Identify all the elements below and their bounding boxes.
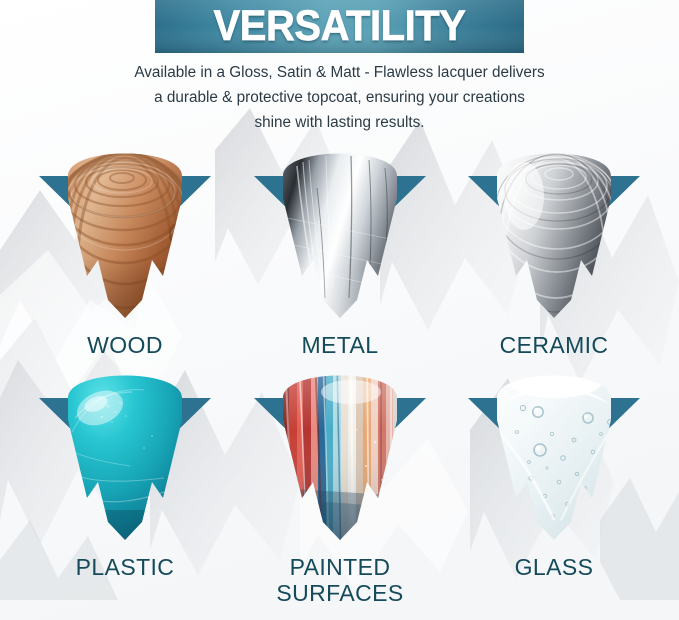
plastic-cone-icon — [12, 370, 238, 550]
intro-line-3: shine with lasting results. — [0, 110, 679, 135]
intro-line-2: a durable & protective topcoat, ensuring… — [0, 85, 679, 110]
material-card-wood: WOOD — [12, 148, 238, 370]
material-card-ceramic: CERAMIC — [441, 148, 667, 370]
material-card-plastic: PLASTIC — [12, 370, 238, 592]
material-label: CERAMIC — [441, 332, 667, 358]
material-label: PAINTED SURFACES — [227, 554, 453, 606]
material-card-glass: GLASS — [441, 370, 667, 592]
material-label: WOOD — [12, 332, 238, 358]
glass-cone-icon — [441, 370, 667, 550]
painted-surfaces-cone-icon — [227, 370, 453, 550]
material-label: GLASS — [441, 554, 667, 580]
metal-cone-icon — [227, 148, 453, 328]
page-title: VERSATILITY — [24, 0, 655, 53]
intro-paragraph: Available in a Gloss, Satin & Matt - Fla… — [0, 60, 679, 135]
material-card-metal: METAL — [227, 148, 453, 370]
materials-grid: WOOD — [0, 148, 679, 618]
material-label: PLASTIC — [12, 554, 238, 580]
intro-line-1: Available in a Gloss, Satin & Matt - Fla… — [0, 60, 679, 85]
material-card-painted-surfaces: PAINTED SURFACES — [227, 370, 453, 592]
material-label: METAL — [227, 332, 453, 358]
ceramic-cone-icon — [441, 148, 667, 328]
wood-cone-icon — [12, 148, 238, 328]
